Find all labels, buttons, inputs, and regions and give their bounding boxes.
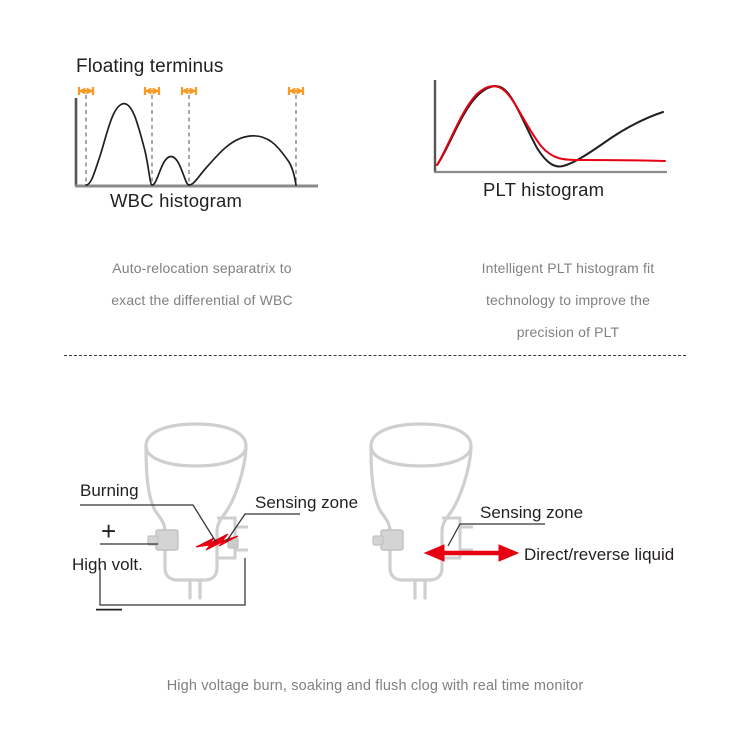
right-device-illustration — [371, 424, 471, 598]
terminus-marker-1 — [79, 87, 93, 95]
direct-reverse-liquid-label: Direct/reverse liquid — [524, 545, 674, 564]
plus-sign-label: + — [101, 516, 116, 546]
plt-description-line-1: Intelligent PLT histogram fit — [420, 252, 716, 284]
bottom-caption: High voltage burn, soaking and flush clo… — [0, 678, 750, 694]
direct-reverse-arrow-icon — [425, 545, 518, 561]
floating-terminus-markers — [79, 87, 303, 95]
minus-sign-label: — — [96, 592, 122, 622]
burning-label: Burning — [80, 481, 139, 500]
wbc-description-line-2: exact the differential of WBC — [58, 284, 346, 316]
wbc-histogram-caption: WBC histogram — [110, 190, 242, 212]
feature-page: Floating terminus — [0, 0, 750, 750]
left-sensing-zone-label: Sensing zone — [255, 493, 358, 512]
plt-description-line-2: technology to improve the — [420, 284, 716, 316]
wbc-description: Auto-relocation separatrix to exact the … — [58, 252, 346, 316]
section-divider — [64, 355, 686, 356]
right-electrode-block — [381, 530, 403, 550]
plt-description-line-3: precision of PLT — [420, 316, 716, 348]
bottom-diagrams: Burning + High volt. — Sensing zone — [0, 400, 750, 650]
bottom-diagrams-svg: Burning + High volt. — Sensing zone — [0, 400, 750, 650]
right-electrode-tab — [373, 536, 383, 545]
wbc-distribution-curve — [86, 104, 296, 185]
terminus-marker-4 — [289, 87, 303, 95]
wbc-description-line-1: Auto-relocation separatrix to — [58, 252, 346, 284]
right-sensing-zone-label: Sensing zone — [480, 503, 583, 522]
left-electrode-block — [156, 530, 178, 550]
plt-description: Intelligent PLT histogram fit technology… — [420, 252, 716, 348]
high-volt-label: High volt. — [72, 555, 143, 574]
plt-histogram-caption: PLT histogram — [483, 179, 604, 201]
terminus-marker-3 — [182, 87, 196, 95]
terminus-marker-2 — [145, 87, 159, 95]
